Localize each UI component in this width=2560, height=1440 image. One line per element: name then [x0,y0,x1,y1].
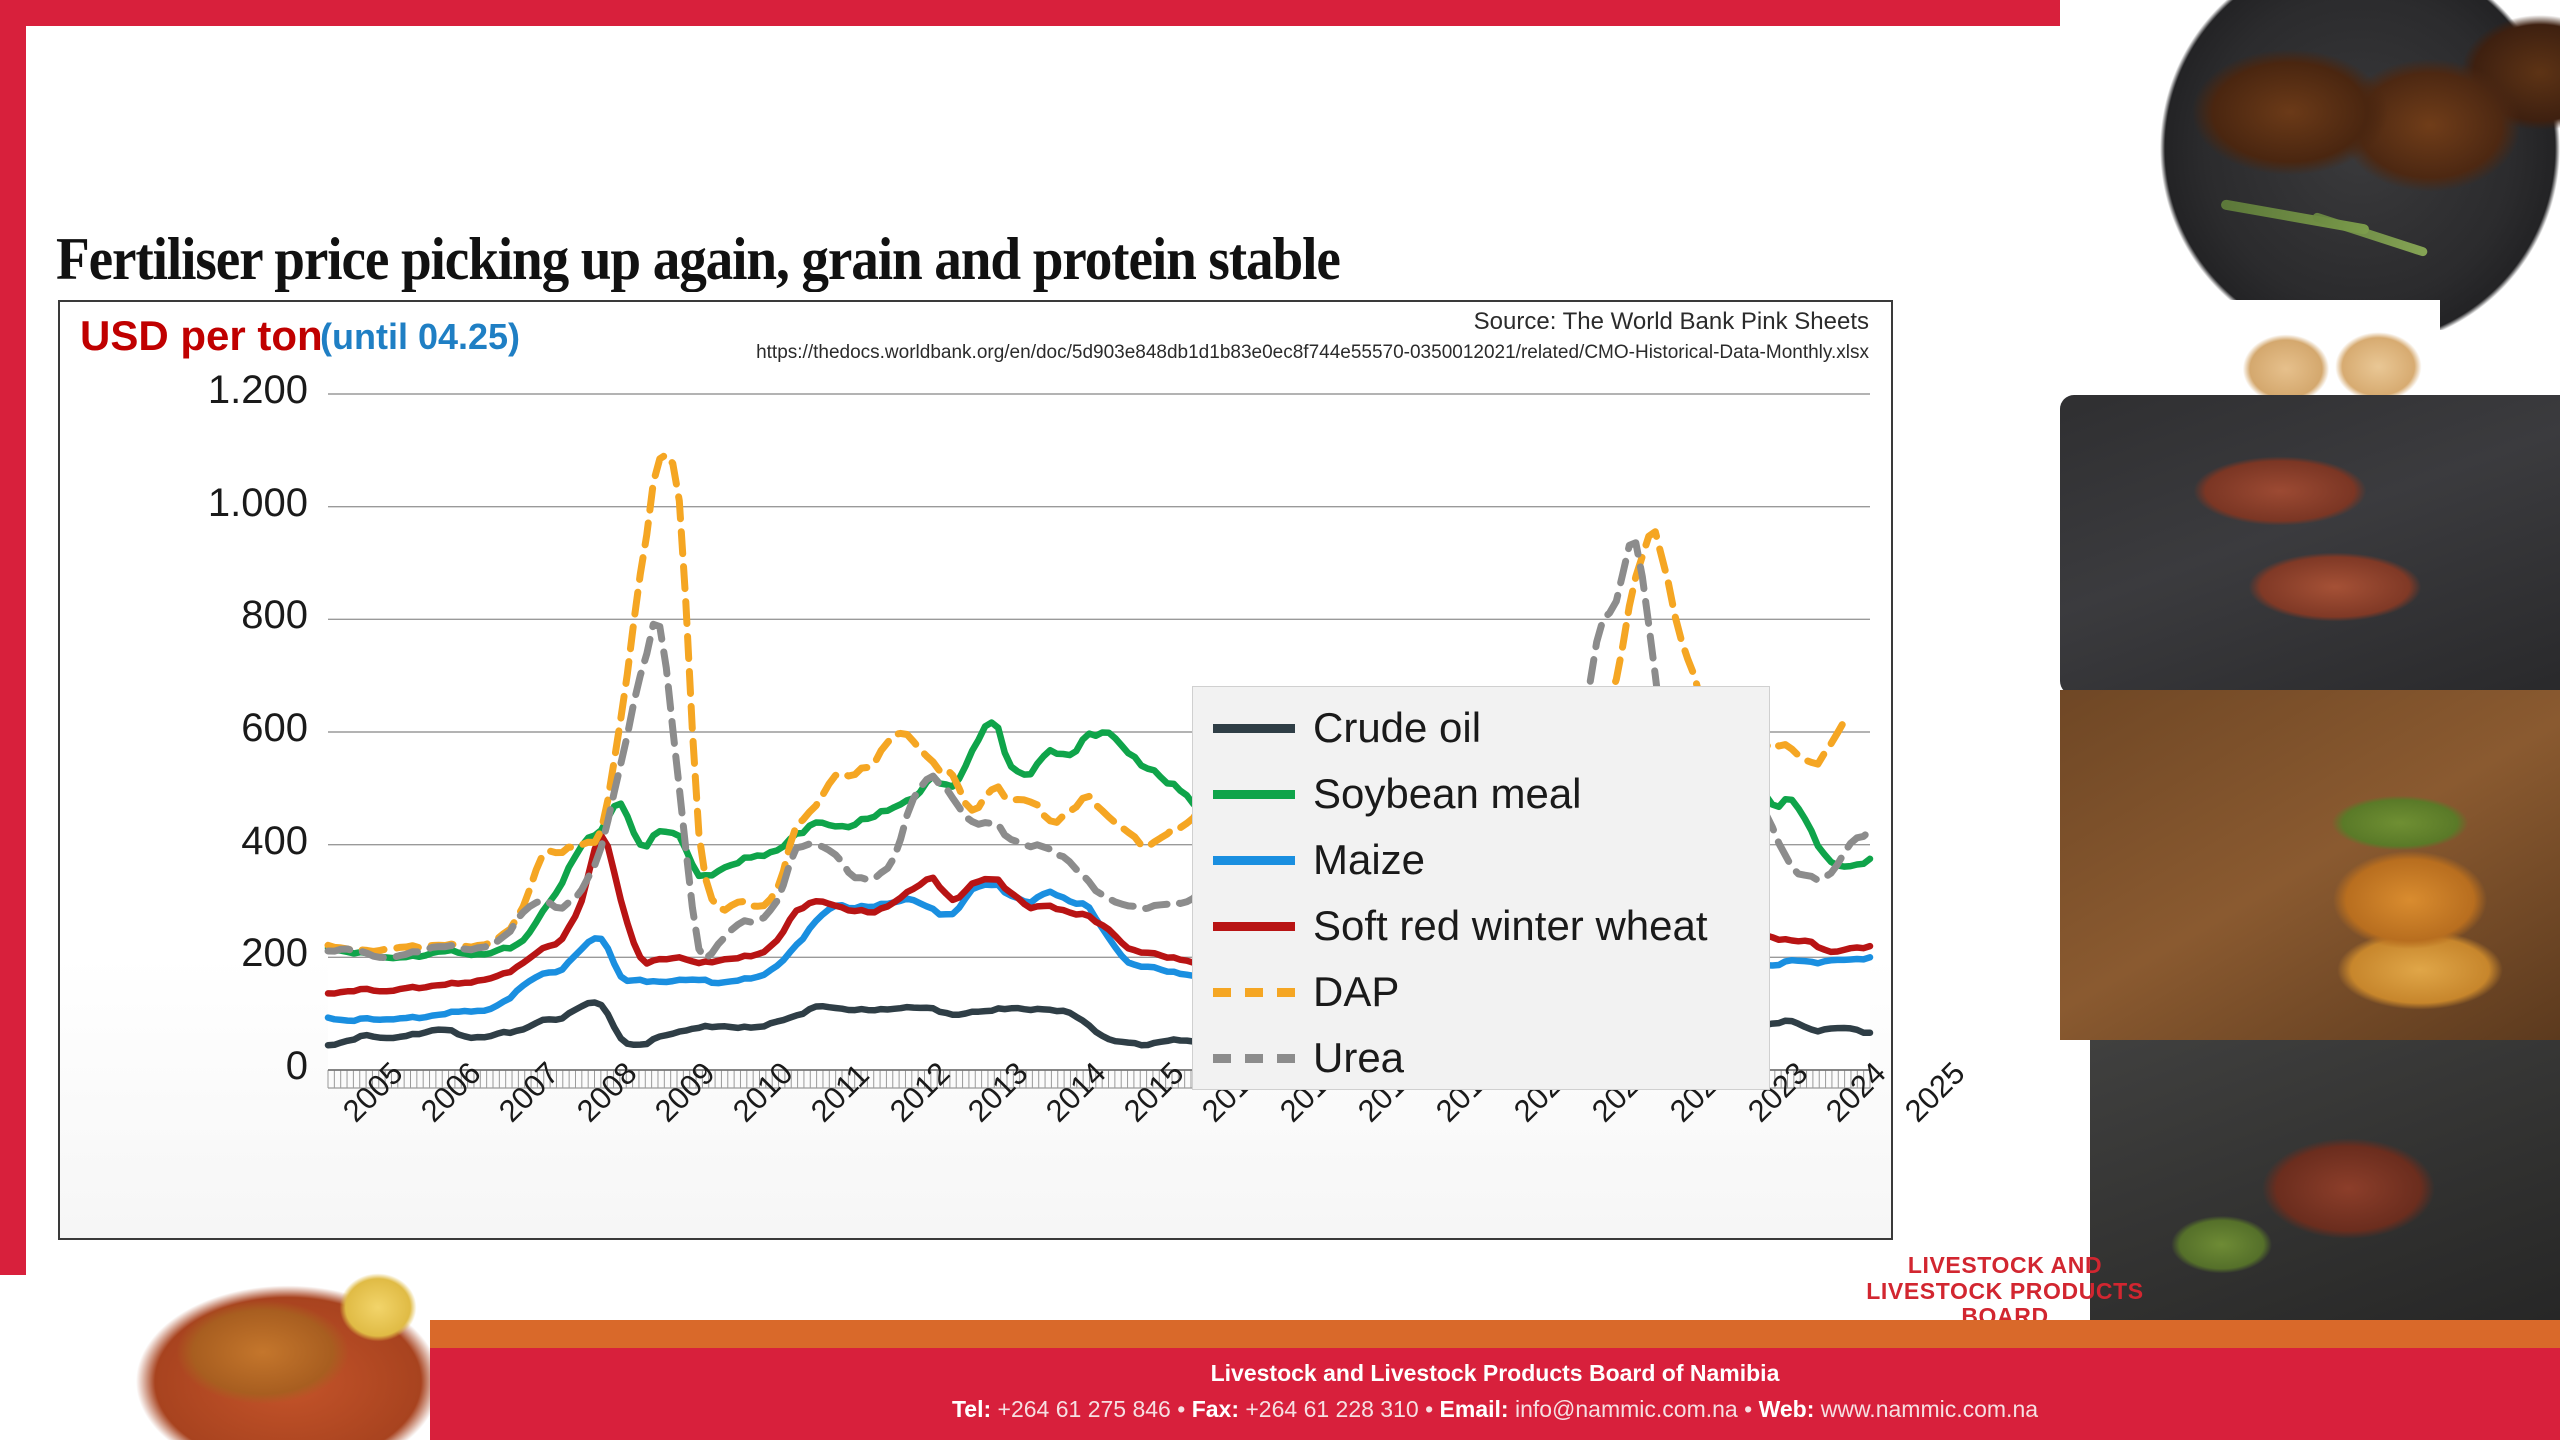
legend-swatch-icon [1213,790,1295,799]
legend-swatch-icon [1213,724,1295,733]
legend-item-label: DAP [1313,968,1399,1016]
footer-sep-2: • [1425,1396,1433,1422]
footer-org-name: Livestock and Livestock Products Board o… [430,1360,2560,1387]
legend-swatch-icon [1213,988,1295,997]
legend-item-label: Urea [1313,1034,1404,1082]
legend-item-dap[interactable]: DAP [1193,959,1769,1025]
legend-item-label: Crude oil [1313,704,1481,752]
y-axis-tick-label: 0 [108,1044,308,1089]
x-axis-tick-label: 2025 [1898,1055,1972,1129]
footer-contact-bar: Livestock and Livestock Products Board o… [430,1348,2560,1440]
footer-sep-1: • [1177,1396,1185,1422]
legend-item-label: Soybean meal [1313,770,1582,818]
legend-item-label: Soft red winter wheat [1313,902,1708,950]
legend-item-urea[interactable]: Urea [1193,1025,1769,1091]
y-axis-tick-label: 600 [108,706,308,751]
legend-swatch-icon [1213,856,1295,865]
chart-unit-label: USD per ton [80,312,323,360]
legend-item-label: Maize [1313,836,1425,884]
legend-item-soybean-meal[interactable]: Soybean meal [1193,761,1769,827]
y-axis-tick-label: 800 [108,593,308,638]
chart-source-url: https://thedocs.worldbank.org/en/doc/5d9… [756,342,1869,364]
footer-fax-label: Fax: [1192,1396,1239,1422]
footer-sep-3: • [1744,1396,1752,1422]
rosemary-sprig-icon [2312,212,2429,258]
logo-line-2: LIVESTOCK PRODUCTS [1835,1279,2175,1305]
logo-line-1: LIVESTOCK AND [1835,1253,2175,1279]
steak-pan-photo [2060,395,2560,695]
y-axis-tick-label: 400 [108,819,308,864]
chart-period-label: (until 04.25) [320,316,520,358]
footer-fax-value: +264 61 228 310 [1245,1396,1418,1422]
frame-left-bar [0,0,26,1275]
footer-tel-value: +264 61 275 846 [998,1396,1171,1422]
legend-swatch-icon [1213,1054,1295,1063]
footer-contact-line: Tel: +264 61 275 846 • Fax: +264 61 228 … [430,1396,2560,1423]
y-axis-tick-label: 1.000 [108,481,308,526]
lamb-photo [2060,0,2560,330]
slide-canvas: Fertiliser price picking up again, grain… [0,0,2560,1440]
roast-chicken-photo [90,1245,450,1440]
footer-web-value[interactable]: www.nammic.com.na [1821,1396,2038,1422]
chart-legend: Crude oilSoybean mealMaizeSoft red winte… [1192,686,1770,1090]
y-axis-tick-label: 200 [108,931,308,976]
legend-item-soft-red-winter-wheat[interactable]: Soft red winter wheat [1193,893,1769,959]
footer-tel-label: Tel: [952,1396,991,1422]
page-title: Fertiliser price picking up again, grain… [56,225,1340,294]
footer-email-label: Email: [1440,1396,1509,1422]
footer-accent-bar [430,1320,2560,1348]
y-axis-tick-label: 1.200 [108,368,308,413]
legend-swatch-icon [1213,922,1295,931]
chart-source-label: Source: The World Bank Pink Sheets [1474,308,1869,336]
legend-item-maize[interactable]: Maize [1193,827,1769,893]
burger-board-photo [2060,690,2560,1040]
footer-web-label: Web: [1759,1396,1815,1422]
chart-card: USD per ton (until 04.25) Source: The Wo… [58,300,1893,1240]
footer-email-value[interactable]: info@nammic.com.na [1515,1396,1738,1422]
legend-item-crude-oil[interactable]: Crude oil [1193,695,1769,761]
frame-top-bar [0,0,2095,26]
